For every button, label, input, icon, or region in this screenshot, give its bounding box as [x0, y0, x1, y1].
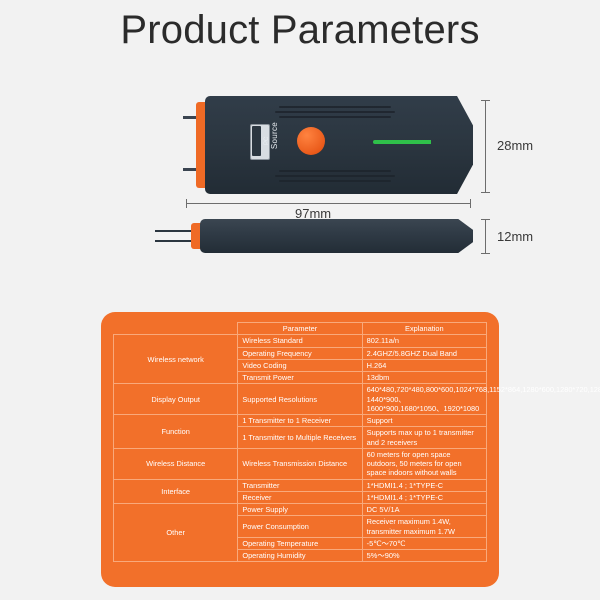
explanation-cell: 60 meters for open space outdoors, 50 me…: [362, 448, 486, 479]
explanation-cell: Receiver maximum 1.4W, transmitter maxim…: [362, 516, 486, 538]
group-label: Other: [114, 504, 238, 562]
table-header-row: Parameter Explanation: [114, 323, 487, 335]
specification-panel: Parameter Explanation Wireless network W…: [101, 312, 499, 587]
height-dimension-line: [485, 100, 486, 192]
parameter-cell: Wireless Transmission Distance: [238, 448, 362, 479]
group-label: Function: [114, 415, 238, 449]
parameter-cell: Operating Humidity: [238, 550, 362, 562]
device-top-view: PC Source: [183, 96, 473, 194]
group-label: Wireless network: [114, 335, 238, 384]
parameter-cell: Wireless Standard: [238, 335, 362, 347]
height-dimension-label: 28mm: [497, 138, 533, 153]
explanation-cell: 13dbm: [362, 372, 486, 384]
table-row: Function 1 Transmitter to 1 Receiver Sup…: [114, 415, 487, 427]
switch-label-source: Source: [270, 122, 279, 149]
power-button[interactable]: [297, 127, 325, 155]
side-body: [200, 219, 445, 253]
pc-source-switch[interactable]: PC: [250, 124, 270, 160]
group-label: Display Output: [114, 384, 238, 415]
parameter-cell: 1 Transmitter to 1 Receiver: [238, 415, 362, 427]
parameter-cell: Operating Temperature: [238, 537, 362, 549]
explanation-cell: 1*HDMI1.4 ; 1*TYPE-C: [362, 479, 486, 491]
parameter-cell: Supported Resolutions: [238, 384, 362, 415]
product-diagram: PC Source 28mm 97mm 12mm: [0, 78, 600, 303]
table-row: Wireless network Wireless Standard 802.1…: [114, 335, 487, 347]
explanation-cell: -5℃～70℃: [362, 537, 486, 549]
explanation-cell: 2.4GHZ/5.8GHZ Dual Band: [362, 347, 486, 359]
explanation-cell: DC 5V/1A: [362, 504, 486, 516]
side-prong-lower: [155, 240, 195, 242]
page-title: Product Parameters: [0, 8, 600, 53]
explanation-cell: 640*480,720*480,800*600,1024*768,1152*86…: [362, 384, 486, 415]
header-parameter: Parameter: [238, 323, 362, 335]
device-body: PC Source: [205, 96, 453, 194]
parameter-cell: Transmit Power: [238, 372, 362, 384]
specification-table: Parameter Explanation Wireless network W…: [113, 322, 487, 562]
side-tip: [438, 219, 473, 253]
table-row: Display Output Supported Resolutions 640…: [114, 384, 487, 415]
parameter-cell: 1 Transmitter to Multiple Receivers: [238, 427, 362, 449]
parameter-cell: Receiver: [238, 491, 362, 503]
explanation-cell: 1*HDMI1.4 ; 1*TYPE-C: [362, 491, 486, 503]
table-row: Wireless Distance Wireless Transmission …: [114, 448, 487, 479]
explanation-cell: 5%～90%: [362, 550, 486, 562]
parameter-cell: Power Supply: [238, 504, 362, 516]
explanation-cell: 802.11a/n: [362, 335, 486, 347]
switch-label-pc: PC: [252, 126, 261, 156]
table-row: Interface Transmitter 1*HDMI1.4 ; 1*TYPE…: [114, 479, 487, 491]
parameter-cell: Transmitter: [238, 479, 362, 491]
thickness-dimension-line: [485, 219, 486, 253]
parameter-cell: Power Consumption: [238, 516, 362, 538]
length-dimension-line: [186, 203, 471, 204]
header-explanation: Explanation: [362, 323, 486, 335]
side-prong-upper: [155, 230, 195, 232]
explanation-cell: Support: [362, 415, 486, 427]
explanation-cell: H.264: [362, 359, 486, 371]
group-label: Interface: [114, 479, 238, 504]
parameter-cell: Operating Frequency: [238, 347, 362, 359]
parameter-cell: Video Coding: [238, 359, 362, 371]
group-label: Wireless Distance: [114, 448, 238, 479]
explanation-cell: Supports max up to 1 transmitter and 2 r…: [362, 427, 486, 449]
device-side-view: [155, 218, 473, 254]
table-row: Other Power Supply DC 5V/1A: [114, 504, 487, 516]
thickness-dimension-label: 12mm: [497, 229, 533, 244]
device-tip: [431, 96, 473, 194]
